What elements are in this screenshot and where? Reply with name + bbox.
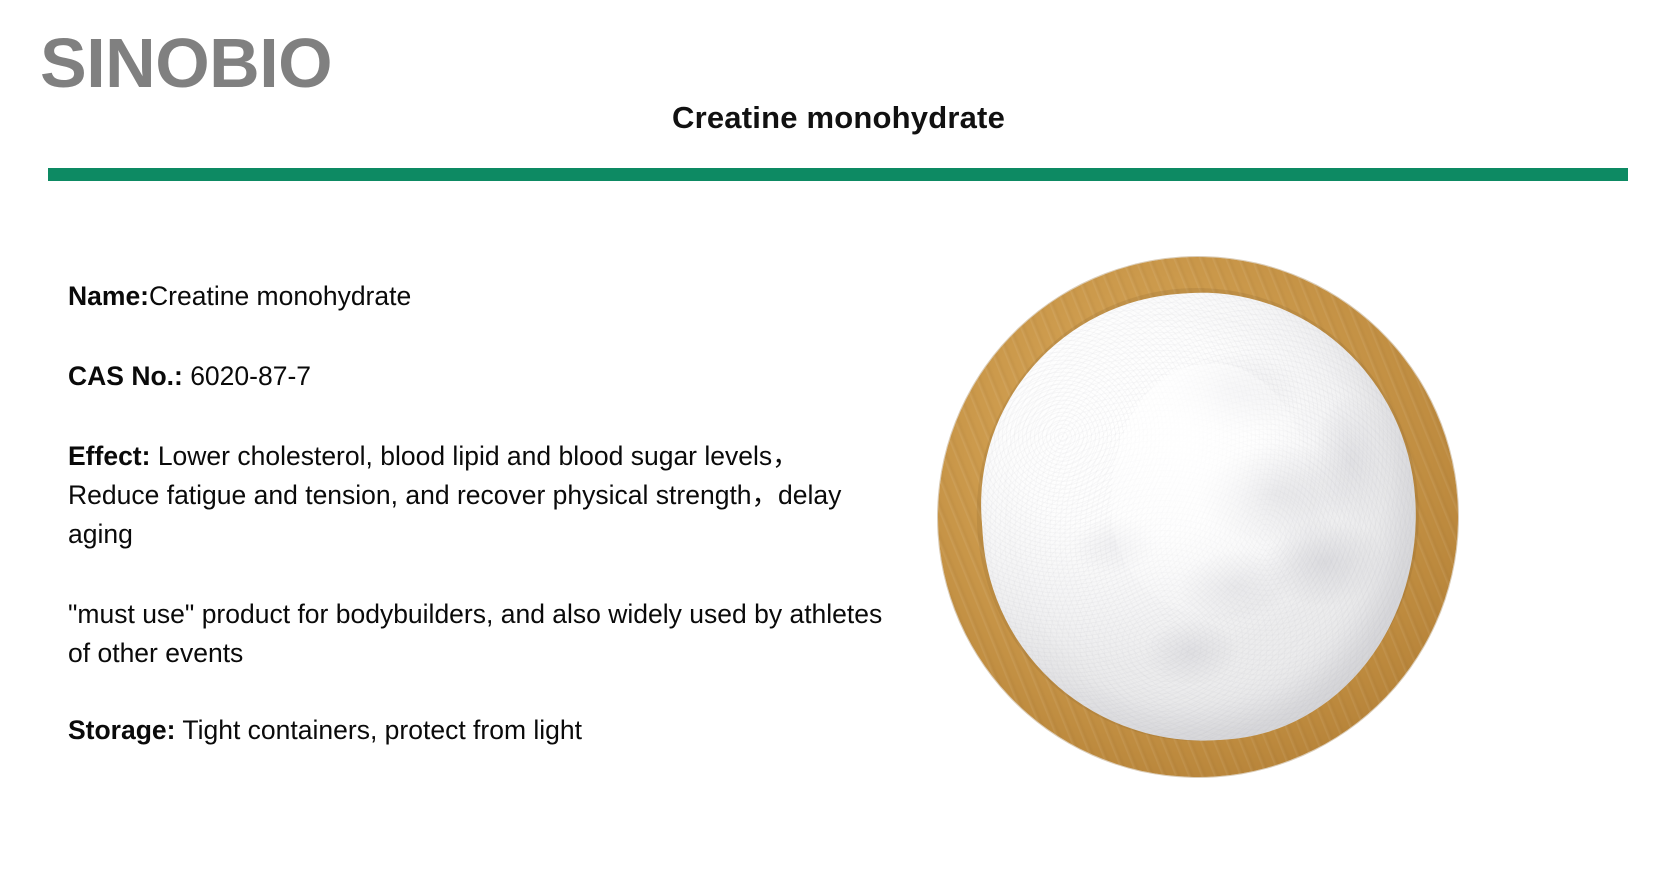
spec-effect: Effect: Lower cholesterol, blood lipid a… [68, 437, 888, 554]
spec-name: Name:Creatine monohydrate [68, 277, 888, 316]
header-divider [48, 168, 1628, 181]
spec-storage-label: Storage: [68, 715, 176, 745]
spec-name-value: Creatine monohydrate [149, 281, 411, 311]
product-photo [925, 248, 1470, 848]
wooden-bowl [925, 248, 1470, 795]
spec-cas-no-label: CAS No.: [68, 361, 183, 391]
page-title: Creatine monohydrate [672, 99, 1005, 136]
spec-name-label: Name: [68, 281, 149, 311]
spec-usage-note: "must use" product for bodybuilders, and… [68, 595, 888, 673]
spec-cas-no-value: 6020-87-7 [183, 361, 311, 391]
brand-logo: SINOBIO [40, 28, 332, 98]
spec-effect-value: Lower cholesterol, blood lipid and blood… [68, 441, 841, 549]
spec-storage: Storage: Tight containers, protect from … [68, 711, 888, 750]
spec-cas-no: CAS No.: 6020-87-7 [68, 357, 888, 396]
spec-storage-value: Tight containers, protect from light [176, 715, 583, 745]
spec-effect-label: Effect: [68, 441, 150, 471]
spec-usage-note-value: "must use" product for bodybuilders, and… [68, 599, 882, 668]
spec-list: Name:Creatine monohydrate CAS No.: 6020-… [68, 250, 888, 750]
product-slide: SINOBIO Creatine monohydrate Name:Creati… [0, 0, 1680, 889]
